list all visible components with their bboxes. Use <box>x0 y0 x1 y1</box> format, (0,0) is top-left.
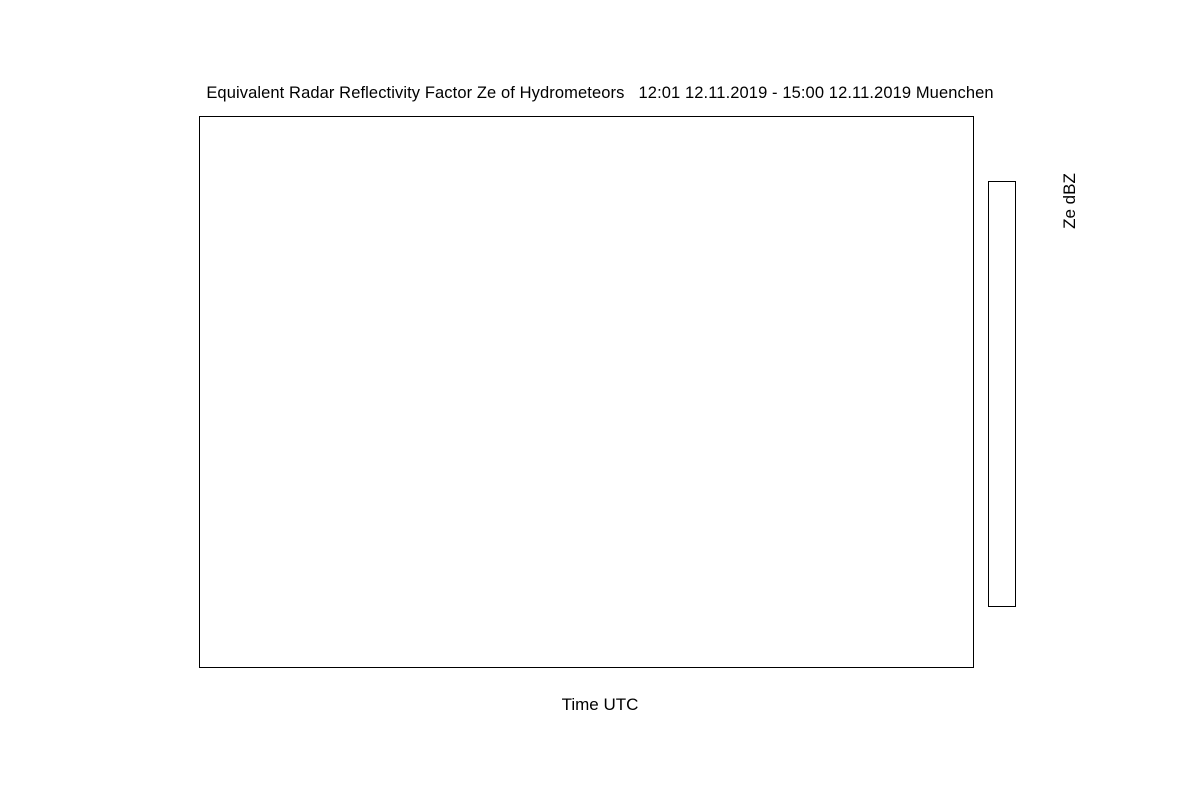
colorbar[interactable] <box>988 181 1016 607</box>
reflectivity-heatmap[interactable] <box>199 116 974 668</box>
colorbar-label: Ze dBZ <box>1060 101 1080 301</box>
chart-title: Equivalent Radar Reflectivity Factor Ze … <box>0 84 1200 103</box>
colorbar-gradient <box>988 181 1016 607</box>
x-axis-label: Time UTC <box>0 695 1200 715</box>
figure-root: Equivalent Radar Reflectivity Factor Ze … <box>0 0 1200 800</box>
plot-area[interactable] <box>199 116 974 668</box>
